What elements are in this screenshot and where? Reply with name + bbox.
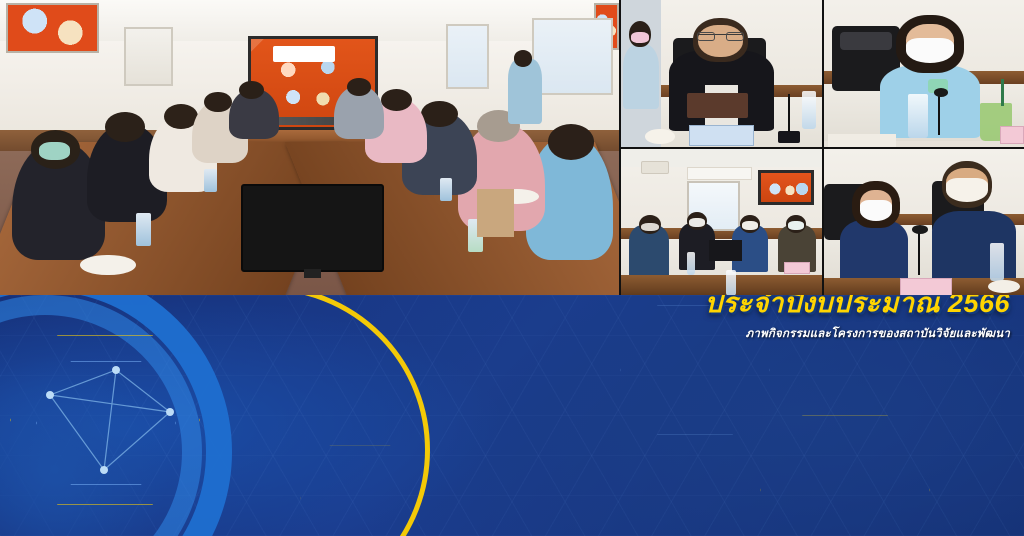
photo-two-navy-polo-participants — [824, 149, 1024, 296]
photo-participant-blue-polo-woman — [824, 0, 1024, 147]
photo-mosaic — [0, 0, 1024, 296]
network-node-graphic — [20, 350, 196, 500]
fiscal-year-title: ประจำปีงบประมาณ 2566 — [700, 295, 1010, 324]
fiscal-year-subtitle: ภาพกิจกรรมและโครงการของสถาบันวิจัยและพัฒ… — [700, 325, 1010, 343]
photo-panel-four-participants — [621, 149, 822, 296]
photo-speaker-suit-man — [621, 0, 822, 147]
ird-news-poster: RMUTT IRD ประจำปีงบประมาณ 2566 ภาพกิจกรร… — [0, 0, 1024, 536]
fiscal-year-header: ประจำปีงบประมาณ 2566 ภาพกิจกรรมและโครงกา… — [700, 295, 1010, 343]
photo-main-conference-room — [0, 0, 619, 296]
poster-banner: RMUTT IRD ประจำปีงบประมาณ 2566 ภาพกิจกรร… — [0, 295, 1024, 536]
